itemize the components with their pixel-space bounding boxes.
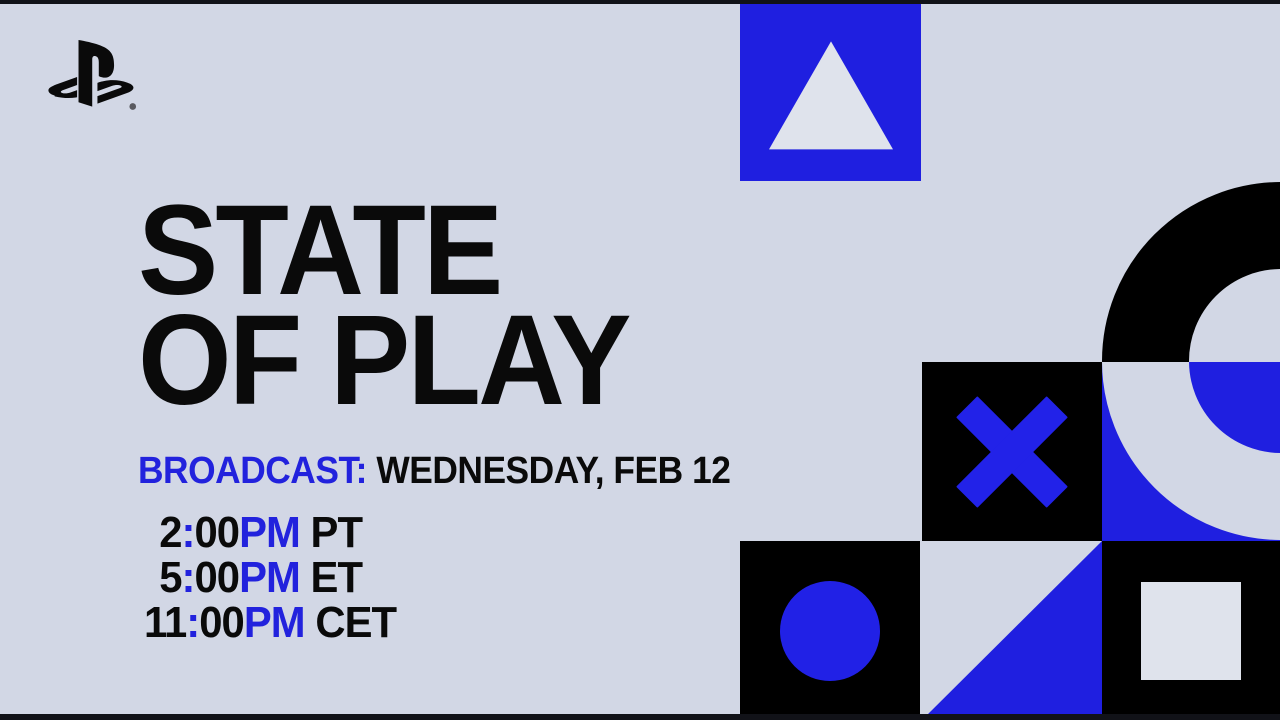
letterbox-bar-top <box>0 0 1280 4</box>
circle-icon <box>780 581 880 681</box>
broadcast-label: BROADCAST: <box>138 450 367 492</box>
time-row: 2:00PM PT <box>144 511 743 556</box>
triangle-cell <box>740 0 921 181</box>
time-colon: : <box>186 598 199 647</box>
broadcast-date: WEDNESDAY, FEB 12 <box>376 450 730 492</box>
state-of-play-promo-slide: STATE OF PLAY BROADCAST: WEDNESDAY, FEB … <box>0 0 1280 720</box>
time-minutes: 00 <box>199 598 244 647</box>
diagonal-split-icon <box>922 541 1102 720</box>
square-icon <box>1141 582 1241 680</box>
time-meridiem: PM <box>244 598 305 647</box>
time-colon: : <box>182 508 195 557</box>
time-hour: 5 <box>159 553 181 602</box>
ring-lower <box>1102 362 1280 541</box>
broadcast-times-list: 2:00PM PT 5:00PM ET 11:00PM CET <box>144 511 743 646</box>
triangle-icon <box>769 41 893 149</box>
time-meridiem: PM <box>239 553 300 602</box>
time-hour: 2 <box>159 508 181 557</box>
time-minutes: 00 <box>194 508 239 557</box>
playstation-logo-icon <box>42 40 138 116</box>
ring-icon <box>1102 362 1280 540</box>
cross-cell <box>922 362 1102 542</box>
square-cell <box>1102 541 1280 720</box>
promo-text-block: STATE OF PLAY BROADCAST: WEDNESDAY, FEB … <box>138 196 775 646</box>
time-row: 5:00PM ET <box>144 556 743 601</box>
time-meridiem: PM <box>239 508 300 557</box>
time-colon: : <box>182 553 195 602</box>
headline-line-2: OF PLAY <box>138 306 737 416</box>
page-title: STATE OF PLAY <box>138 196 737 416</box>
letterbox-bar-bottom <box>0 714 1280 720</box>
time-row: 11:00PM CET <box>144 601 743 646</box>
time-zone: ET <box>311 553 363 602</box>
time-hour: 11 <box>144 598 186 647</box>
diagonal-cell <box>922 541 1102 720</box>
time-minutes: 00 <box>194 553 239 602</box>
time-zone: CET <box>315 598 396 647</box>
broadcast-line: BROADCAST: WEDNESDAY, FEB 12 <box>138 450 730 493</box>
time-zone: PT <box>311 508 363 557</box>
